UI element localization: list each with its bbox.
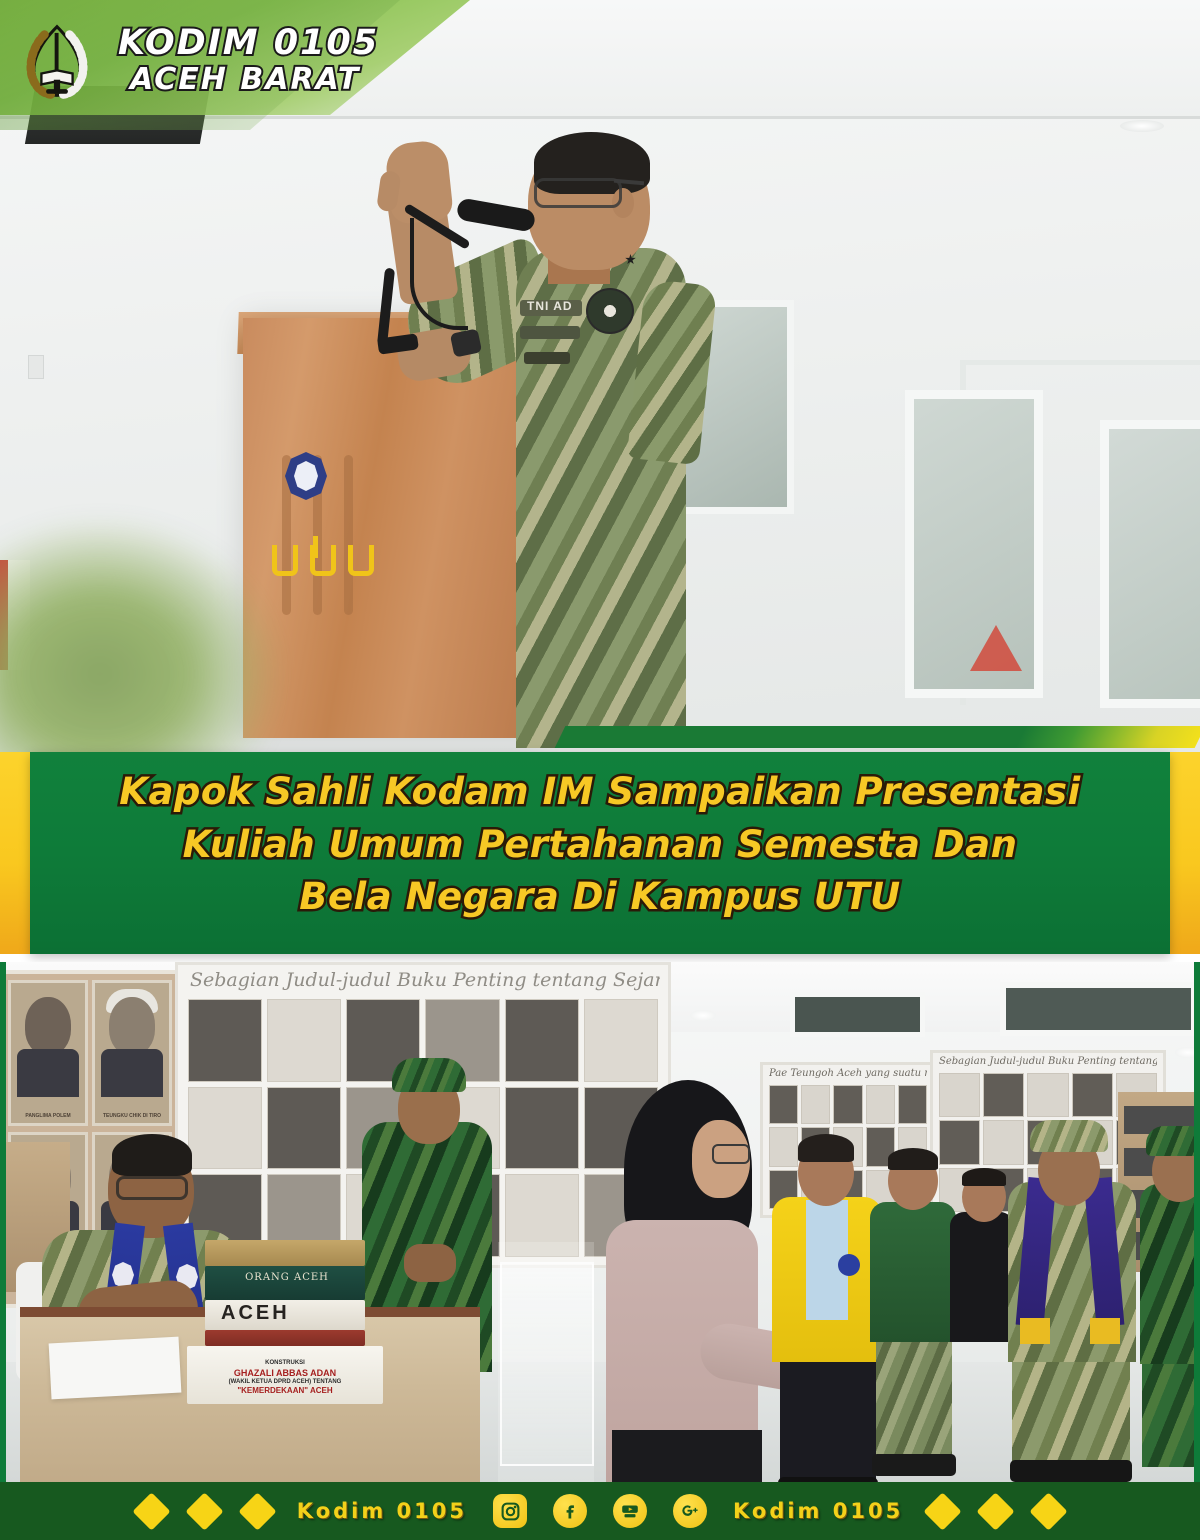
exhibition-board-title: Sebagian Judul-judul Buku Penting tentan… bbox=[190, 969, 660, 991]
attending-officer-hands bbox=[404, 1244, 456, 1282]
podium-groove bbox=[344, 455, 353, 615]
green-jacket-hair bbox=[888, 1148, 938, 1170]
woman-skirt bbox=[612, 1430, 762, 1482]
diamond-icon bbox=[1030, 1492, 1068, 1530]
instagram-icon[interactable] bbox=[493, 1494, 527, 1528]
unit-patch-icon bbox=[586, 288, 634, 334]
facebook-icon[interactable] bbox=[553, 1494, 587, 1528]
ceiling-light-icon bbox=[690, 1010, 716, 1021]
boots bbox=[1010, 1460, 1132, 1482]
diamond-icon bbox=[185, 1492, 223, 1530]
diamond-icon bbox=[238, 1492, 276, 1530]
book-stack: ORANG ACEH ACEH KONSTRUKSI GHAZALI ABBAS… bbox=[205, 1240, 365, 1410]
boots bbox=[872, 1454, 956, 1476]
diamond-icon bbox=[977, 1492, 1015, 1530]
right-officer-torso bbox=[1140, 1184, 1200, 1364]
headline-line-2: Kuliah Umum Pertahanan Semesta Dan bbox=[30, 819, 1170, 872]
green-jacket-torso bbox=[870, 1202, 956, 1342]
poster-root: TNI AD KODIM 0105 ACEH BARAT bbox=[0, 0, 1200, 1540]
footer-bar: Kodim 0105 Kodim bbox=[0, 1482, 1200, 1540]
yellow-jacket-trousers bbox=[780, 1357, 876, 1482]
military-cap-icon bbox=[1146, 1126, 1200, 1156]
book-title-bottom-top: KONSTRUKSI bbox=[195, 1360, 375, 1368]
right-officer-trousers bbox=[1142, 1357, 1200, 1467]
foreground-foliage bbox=[0, 520, 280, 790]
window-pane bbox=[1100, 420, 1200, 708]
window-pane bbox=[1000, 982, 1197, 1036]
glasses-icon bbox=[712, 1144, 750, 1164]
signer-hair bbox=[112, 1134, 192, 1176]
military-cap-icon bbox=[392, 1058, 466, 1092]
sash-fringe bbox=[1020, 1318, 1050, 1344]
uniform-nametag-3 bbox=[524, 352, 570, 364]
diamond-icon bbox=[132, 1492, 170, 1530]
headline-text: Kapok Sahli Kodam IM Sampaikan Presentas… bbox=[30, 766, 1170, 924]
book-title-bottom-name: GHAZALI ABBAS ADAN bbox=[234, 1368, 336, 1378]
military-cap-icon bbox=[1030, 1120, 1108, 1152]
banner-accent-strip-top bbox=[555, 726, 1200, 748]
google-plus-icon[interactable] bbox=[673, 1494, 707, 1528]
window-pane bbox=[905, 390, 1043, 698]
uniform-branch-label: TNI AD bbox=[527, 299, 589, 317]
exhibition-board-title: Pae Teungoh Aceh yang suatu masa jaya te… bbox=[769, 1068, 927, 1079]
book-title-bottom-quote: "KEMERDEKAAN" ACEH bbox=[195, 1386, 375, 1396]
hero-label: PANGLIMA POLEM bbox=[11, 1113, 85, 1119]
book-title-bottom: KONSTRUKSI GHAZALI ABBAS ADAN (WAKIL KET… bbox=[195, 1360, 375, 1396]
yellow-jacket-hair bbox=[798, 1134, 854, 1162]
youtube-icon[interactable] bbox=[613, 1494, 647, 1528]
ceiling-light-icon bbox=[1175, 1047, 1200, 1058]
black-shirt-hair bbox=[962, 1168, 1006, 1186]
diamond-icon bbox=[924, 1492, 962, 1530]
glasses-icon bbox=[534, 178, 622, 208]
brand-line-2: ACEH BARAT bbox=[118, 61, 438, 99]
headline-line-1: Kapok Sahli Kodam IM Sampaikan Presentas… bbox=[30, 766, 1170, 819]
window-pane bbox=[790, 992, 925, 1037]
hero-portrait: PANGLIMA POLEM bbox=[8, 980, 88, 1126]
senior-officer-trousers bbox=[1012, 1354, 1130, 1469]
brand-line-1: KODIM 0105 bbox=[118, 26, 438, 61]
sash-fringe bbox=[1090, 1318, 1120, 1344]
book-item bbox=[205, 1240, 365, 1266]
acrylic-stand bbox=[500, 1262, 594, 1466]
university-emblem-icon bbox=[285, 452, 327, 500]
footer-label-right: Kodim 0105 bbox=[733, 1499, 903, 1523]
book-title-white: ACEH bbox=[221, 1302, 351, 1325]
bottom-photo: PANGLIMA POLEM TEUNGKU CHIK DI TIRO TEUK… bbox=[0, 962, 1200, 1482]
glasses-icon bbox=[116, 1176, 188, 1200]
ceiling-light-icon bbox=[1120, 120, 1164, 132]
green-jacket-trousers bbox=[876, 1334, 952, 1464]
brand-title-block: KODIM 0105 ACEH BARAT bbox=[118, 26, 438, 99]
podium-utu-letters bbox=[272, 545, 402, 577]
university-emblem-icon bbox=[838, 1254, 860, 1276]
wall-plate bbox=[28, 355, 44, 379]
book-item bbox=[205, 1330, 365, 1346]
kodim-crest-icon bbox=[18, 22, 96, 100]
hero-portrait: TEUNGKU CHIK DI TIRO bbox=[92, 980, 172, 1126]
exhibition-board-title: Sebagian Judul-judul Buku Penting tentan… bbox=[939, 1056, 1157, 1067]
book-title-bottom-sub: (WAKIL KETUA DPRD ACEH) TENTANG bbox=[195, 1379, 375, 1387]
guest-book-page bbox=[49, 1337, 182, 1400]
headline-line-3: Bela Negara Di Kampus UTU bbox=[30, 871, 1170, 924]
book-title-green: ORANG ACEH bbox=[239, 1272, 335, 1283]
banner-body: Kapok Sahli Kodam IM Sampaikan Presentas… bbox=[30, 752, 1170, 954]
black-shirt-torso bbox=[950, 1212, 1014, 1342]
footer-label-left: Kodim 0105 bbox=[297, 1499, 467, 1523]
hero-label: TEUNGKU CHIK DI TIRO bbox=[95, 1113, 169, 1119]
headline-banner: Kapok Sahli Kodam IM Sampaikan Presentas… bbox=[0, 752, 1200, 954]
uniform-nametag-2 bbox=[520, 326, 580, 339]
